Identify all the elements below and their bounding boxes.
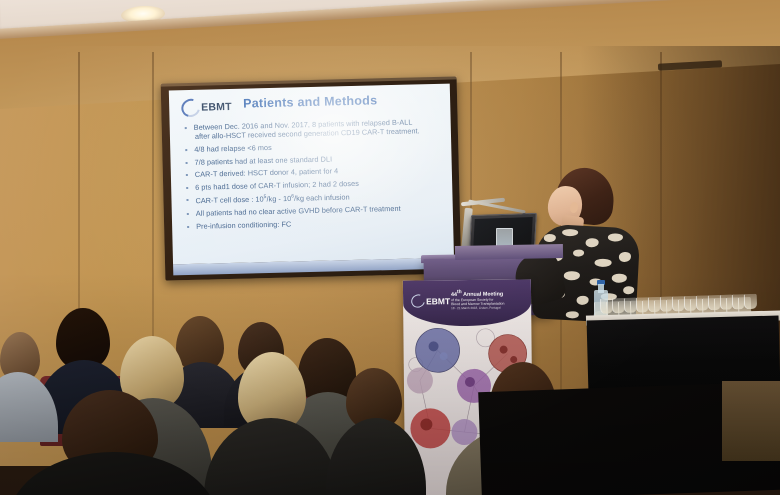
slide-bullet: Between Dec. 2016 and Nov. 2017, 8 patie…: [183, 117, 443, 142]
conference-photo-scene: EBMT Patients and Methods Between Dec. 2…: [0, 0, 780, 495]
presentation-slide: EBMT Patients and Methods Between Dec. 2…: [169, 84, 454, 265]
podium-ledge: [455, 244, 563, 260]
bullet-line-1: CAR-T derived: HSCT donor 4, patient for…: [195, 167, 339, 180]
audience: [0, 280, 780, 495]
slide-bullet-list: Between Dec. 2016 and Nov. 2017, 8 patie…: [183, 117, 446, 235]
bullet-tail: /kg each infusion: [294, 193, 350, 203]
slide-title: Patients and Methods: [243, 93, 377, 110]
bullet-line-1: 7/8 patients had at least one standard D…: [194, 154, 332, 166]
bullet-line-1: CAR-T cell dose : 10: [195, 195, 263, 206]
ebmt-logo: EBMT: [181, 98, 232, 117]
bullet-mid: /kg - 10: [266, 194, 291, 204]
slide-header: EBMT Patients and Methods: [169, 87, 451, 120]
bullet-line-1: 4/8 had relapse <6 mos: [194, 143, 272, 154]
projection-screen[interactable]: EBMT Patients and Methods Between Dec. 2…: [161, 76, 462, 280]
bullet-line-1: All patients had no clear active GVHD be…: [196, 204, 401, 218]
slide-bullet: Pre-infusion conditioning: FC: [185, 216, 445, 232]
globe-swoosh-icon: [178, 95, 203, 120]
floor: [722, 381, 780, 461]
ebmt-logo-text: EBMT: [201, 101, 232, 114]
bullet-line-1: 6 pts had1 dose of CAR-T infusion; 2 had…: [195, 179, 359, 192]
bullet-line-1: Pre-infusion conditioning: FC: [196, 219, 291, 230]
